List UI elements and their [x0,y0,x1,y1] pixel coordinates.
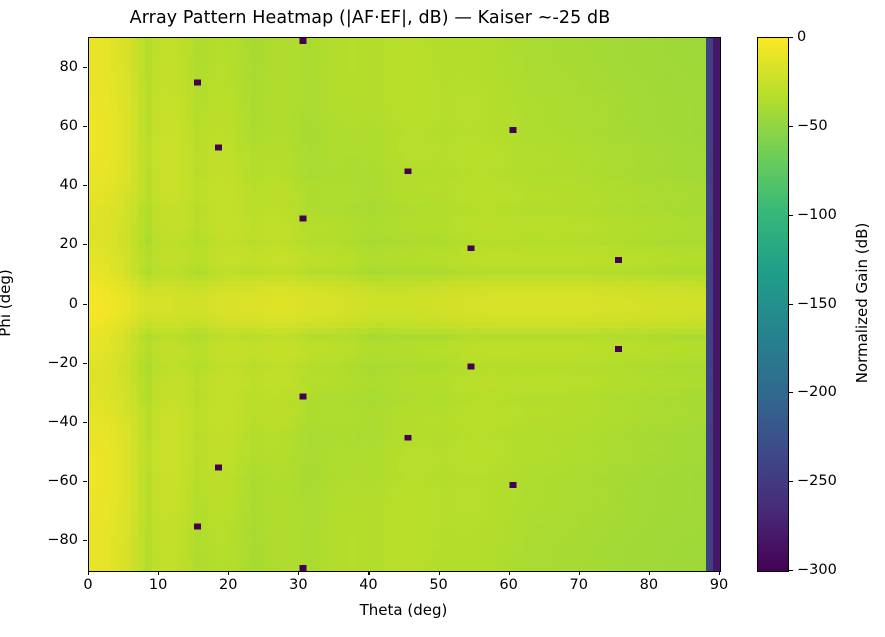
colorbar-tick-label: −150 [797,296,837,312]
y-tick-label: 40 [60,177,78,193]
y-tick-label: 0 [69,296,78,312]
x-tick-label: 90 [710,577,728,593]
colorbar-tick-label: −300 [797,562,837,578]
y-tick-mark [83,67,87,68]
heatmap-pixels [89,38,720,571]
x-tick-label: 20 [219,577,237,593]
x-tick-mark [88,571,89,575]
colorbar-tick-label: −100 [797,207,837,223]
y-tick-label: −60 [47,473,78,489]
y-tick-mark [83,540,87,541]
x-tick-mark [649,571,650,575]
x-tick-mark [509,571,510,575]
y-tick-mark [83,126,87,127]
y-tick-mark [83,304,87,305]
colorbar-tick-mark [788,304,793,305]
x-tick-label: 60 [499,577,517,593]
y-tick-label: 80 [60,59,78,75]
colorbar-tick-mark [788,570,793,571]
colorbar-tick-label: −50 [797,118,828,134]
x-tick-mark [228,571,229,575]
x-tick-mark [368,571,369,575]
x-axis-label: Theta (deg) [88,601,719,619]
x-tick-mark [439,571,440,575]
x-tick-label: 30 [289,577,307,593]
x-tick-label: 40 [359,577,377,593]
y-tick-label: −20 [47,355,78,371]
y-tick-mark [83,422,87,423]
colorbar-tick-mark [788,37,793,38]
colorbar-tick-mark [788,126,793,127]
x-tick-mark [719,571,720,575]
x-tick-label: 0 [83,577,92,593]
x-tick-mark [579,571,580,575]
x-tick-label: 80 [640,577,658,593]
colorbar-tick-label: −250 [797,473,837,489]
heatmap-image [89,38,720,571]
colorbar-tick-mark [788,392,793,393]
figure-canvas: Array Pattern Heatmap (|AF·EF|, dB) — Ka… [0,0,885,637]
colorbar-tick-mark [788,215,793,216]
x-tick-label: 10 [149,577,167,593]
y-tick-label: 20 [60,236,78,252]
chart-title: Array Pattern Heatmap (|AF·EF|, dB) — Ka… [0,8,740,28]
y-tick-mark [83,244,87,245]
colorbar [757,37,789,572]
colorbar-tick-label: 0 [797,29,806,45]
y-tick-label: −80 [47,532,78,548]
x-tick-label: 50 [429,577,447,593]
x-tick-mark [298,571,299,575]
x-tick-mark [158,571,159,575]
y-tick-mark [83,481,87,482]
heatmap-axes [88,37,721,572]
y-axis-label: Phi (deg) [0,269,14,336]
y-tick-label: −40 [47,414,78,430]
y-tick-mark [83,363,87,364]
colorbar-tick-mark [788,481,793,482]
y-tick-mark [83,185,87,186]
y-tick-label: 60 [60,118,78,134]
x-tick-label: 70 [570,577,588,593]
colorbar-label: Normalized Gain (dB) [853,223,871,384]
colorbar-tick-label: −200 [797,384,837,400]
